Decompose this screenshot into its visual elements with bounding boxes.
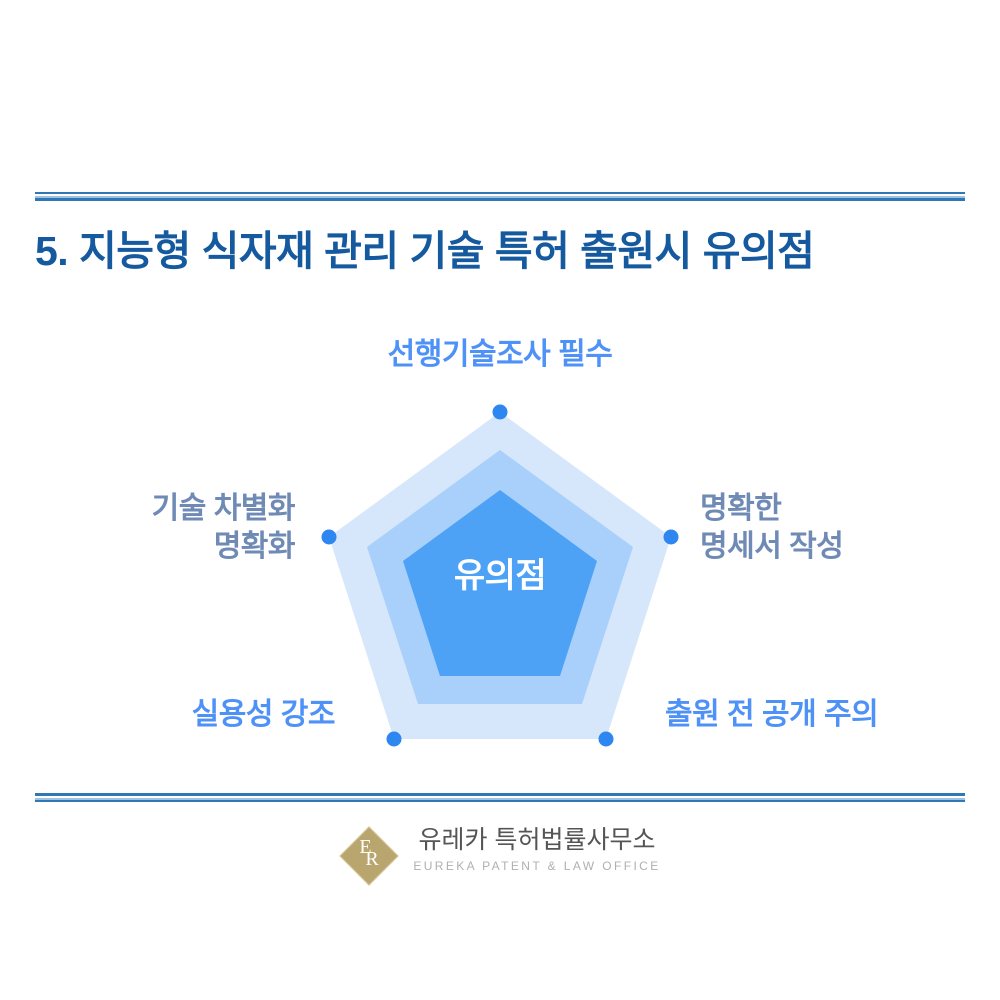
logo-monogram-r: R xyxy=(365,851,378,867)
node-label-bottom-left: 실용성 강조 xyxy=(20,696,335,734)
page-title: 5. 지능형 식자재 관리 기술 특허 출원시 유의점 xyxy=(35,228,970,275)
node-label-right: 명확한 명세서 작성 xyxy=(700,490,980,565)
logo-text-block: 유레카 특허법률사무소 EUREKA PATENT & LAW OFFICE xyxy=(413,824,660,873)
bottom-divider xyxy=(35,793,965,802)
vertex-dot-top[interactable] xyxy=(493,405,508,420)
node-label-top: 선행기술조사 필수 xyxy=(300,336,700,374)
top-divider-line-3 xyxy=(35,198,965,201)
logo-name-korean: 유레카 특허법률사무소 xyxy=(419,826,656,855)
node-label-left: 기술 차별화 명확화 xyxy=(20,490,295,565)
logo-monogram: E R xyxy=(339,826,397,884)
node-label-bottom-right: 출원 전 공개 주의 xyxy=(665,696,985,734)
footer-logo: E R 유레카 특허법률사무소 EUREKA PATENT & LAW OFFI… xyxy=(0,824,1000,904)
bottom-divider-line-3 xyxy=(35,800,965,802)
pentagon-center-label: 유의점 xyxy=(400,548,600,597)
vertex-dot-left[interactable] xyxy=(322,530,337,545)
slide-canvas: 5. 지능형 식자재 관리 기술 특허 출원시 유의점 유의점 선행기술조사 필… xyxy=(0,0,1000,1000)
vertex-dot-right[interactable] xyxy=(664,530,679,545)
logo-name-english: EUREKA PATENT & LAW OFFICE xyxy=(413,859,660,873)
pentagon-diagram: 유의점 선행기술조사 필수 명확한 명세서 작성 출원 전 공개 주의 실용성 … xyxy=(0,300,1000,780)
vertex-dot-bottom-right[interactable] xyxy=(599,732,614,747)
vertex-dot-bottom-left[interactable] xyxy=(387,732,402,747)
logo-diamond-icon: E R xyxy=(339,826,397,884)
top-divider xyxy=(35,192,965,201)
